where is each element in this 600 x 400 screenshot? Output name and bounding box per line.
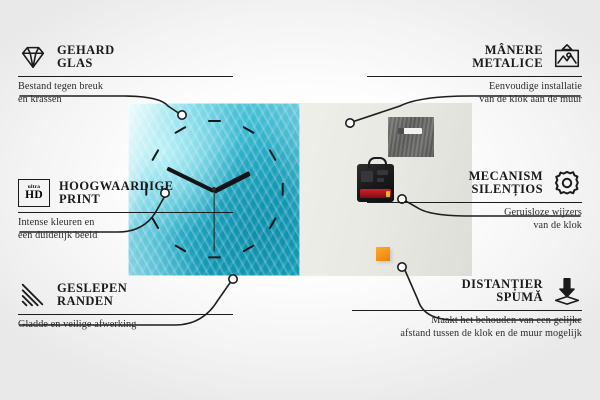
feature-divider [18, 212, 233, 213]
feature-hoogwaardige-print: ultra HD HOOGWAARDIGE PRINT Intense kleu… [18, 176, 233, 243]
feature-title: DISTANȚIER SPUMĂ [462, 278, 543, 305]
clock-hour-mark [242, 244, 254, 253]
feature-subtitle: Eenvoudige installatie van de klok aan d… [367, 81, 582, 106]
feature-divider [352, 310, 582, 311]
gear-icon [552, 168, 582, 198]
feature-subtitle: Geruisloze wijzers van de klok [367, 207, 582, 232]
clock-hour-mark [151, 149, 160, 161]
feature-title: MÂNERE METALICE [472, 44, 543, 71]
feature-header: GEHARD GLAS [18, 40, 233, 74]
clock-hour-mark [281, 182, 283, 195]
feature-subtitle: Gladde en veilige afwerking [18, 319, 233, 332]
clock-hour-mark [269, 217, 278, 229]
feature-subtitle: Maakt het behouden van een gelijke afsta… [352, 315, 582, 340]
feature-title: MECANISM SILENȚIOS [469, 170, 543, 197]
beveled-edges-icon [18, 280, 48, 310]
metal-hanger-plate [388, 117, 434, 157]
hanger-slot [398, 128, 422, 134]
foam-spacer [376, 247, 390, 261]
clock-hour-mark [174, 126, 186, 135]
feature-divider [18, 314, 233, 315]
clock-hour-mark [208, 120, 221, 122]
framed-picture-hanger-icon [552, 42, 582, 72]
feature-header: ultra HD HOOGWAARDIGE PRINT [18, 176, 233, 210]
feature-title: GEHARD GLAS [57, 44, 115, 71]
ultra-hd-icon: ultra HD [18, 179, 50, 207]
down-arrow-pad-icon [552, 276, 582, 306]
feature-subtitle: Bestand tegen breuk en krassen [18, 81, 233, 106]
feature-distantier-spuma: DISTANȚIER SPUMĂ Maakt het behouden van … [352, 274, 582, 341]
feature-subtitle: Intense kleuren en een duidelijk beeld [18, 217, 233, 242]
feature-divider [367, 202, 582, 203]
clock-hour-mark [174, 244, 186, 253]
feature-header: GESLEPEN RANDEN [18, 278, 233, 312]
diamond-icon [18, 42, 48, 72]
feature-divider [367, 76, 582, 77]
feature-gehard-glas: GEHARD GLAS Bestand tegen breuk en krass… [18, 40, 233, 107]
feature-header: DISTANȚIER SPUMĂ [352, 274, 582, 308]
feature-title: GESLEPEN RANDEN [57, 282, 127, 309]
feature-divider [18, 76, 233, 77]
feature-title: HOOGWAARDIGE PRINT [59, 180, 173, 207]
clock-hour-mark [208, 256, 221, 258]
clock-hour-mark [269, 149, 278, 161]
feature-geslepen-randen: GESLEPEN RANDEN Gladde en veilige afwerk… [18, 278, 233, 332]
clock-hour-mark [242, 126, 254, 135]
feature-header: MÂNERE METALICE [367, 40, 582, 74]
infographic-canvas: GEHARD GLAS Bestand tegen breuk en krass… [0, 0, 600, 400]
feature-manere-metalice: MÂNERE METALICE Eenvoudige installatie v… [367, 40, 582, 107]
feature-mecanism-silentios: MECANISM SILENȚIOS Geruisloze wijzers va… [367, 166, 582, 233]
feature-header: MECANISM SILENȚIOS [367, 166, 582, 200]
